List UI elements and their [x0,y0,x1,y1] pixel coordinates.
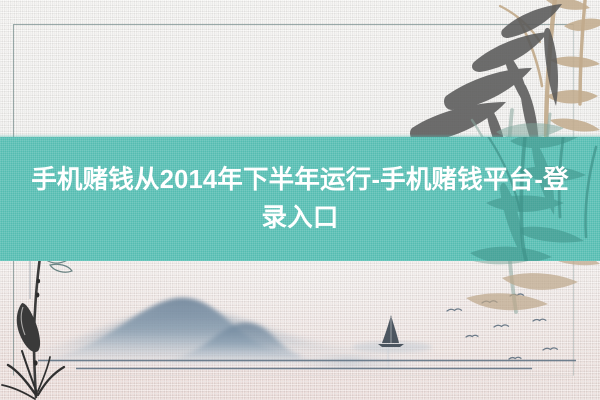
title-container: 手机赌钱从2014年下半年运行-手机赌钱平台-登录入口 [0,137,600,261]
orchid-pod [17,303,40,352]
banner-canvas: 手机赌钱从2014年下半年运行-手机赌钱平台-登录入口 [0,0,600,400]
page-title: 手机赌钱从2014年下半年运行-手机赌钱平台-登录入口 [20,161,580,237]
